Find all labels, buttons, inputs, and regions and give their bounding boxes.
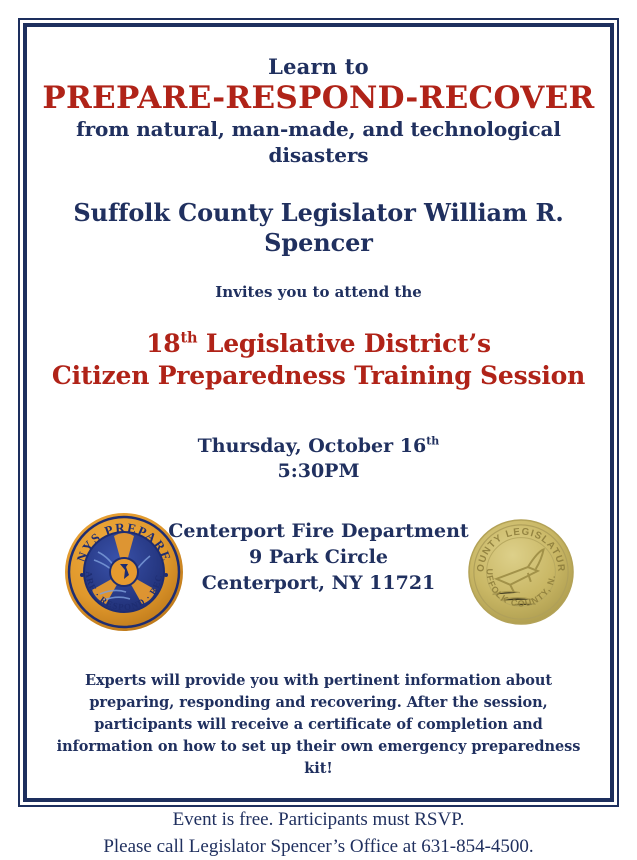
venue-and-seals-row: NYS PREPARE PREPARE · RESPOND · RECOVER … bbox=[34, 512, 603, 642]
event-date-line: Thursday, October 16th bbox=[34, 434, 603, 459]
event-datetime: Thursday, October 16th 5:30PM bbox=[34, 434, 603, 484]
rsvp-line-free: Event is free. Participants must RSVP. bbox=[34, 806, 603, 833]
description-paragraph: Experts will provide you with pertinent … bbox=[34, 670, 603, 780]
session-title: Citizen Preparedness Training Session bbox=[34, 360, 603, 392]
district-ordinal-suffix: th bbox=[181, 330, 198, 347]
learn-to-line: Learn to bbox=[34, 54, 603, 80]
rsvp-footer: Event is free. Participants must RSVP. P… bbox=[34, 806, 603, 860]
flyer-page: Learn to PREPARE-RESPOND-RECOVER from na… bbox=[0, 0, 637, 825]
prepare-respond-recover-headline: PREPARE-RESPOND-RECOVER bbox=[34, 80, 603, 116]
rsvp-line-phone: Please call Legislator Spencer’s Office … bbox=[34, 833, 603, 860]
flyer-content: Learn to PREPARE-RESPOND-RECOVER from na… bbox=[34, 34, 603, 791]
district-title-rest: Legislative District’s bbox=[197, 329, 491, 358]
legislator-name: Suffolk County Legislator William R. Spe… bbox=[34, 198, 603, 258]
event-time: 5:30PM bbox=[34, 459, 603, 484]
district-number: 18 bbox=[146, 329, 180, 358]
from-disasters-line: from natural, man-made, and technologica… bbox=[34, 116, 603, 168]
date-ordinal-suffix: th bbox=[426, 435, 439, 448]
event-date: Thursday, October 16 bbox=[198, 435, 427, 457]
district-title: 18th Legislative District’s bbox=[34, 328, 603, 360]
invitation-line: Invites you to attend the bbox=[34, 282, 603, 302]
suffolk-county-legislature-seal-icon: COUNTY LEGISLATURE SUFFOLK COUNTY, N. Y. bbox=[467, 518, 575, 626]
